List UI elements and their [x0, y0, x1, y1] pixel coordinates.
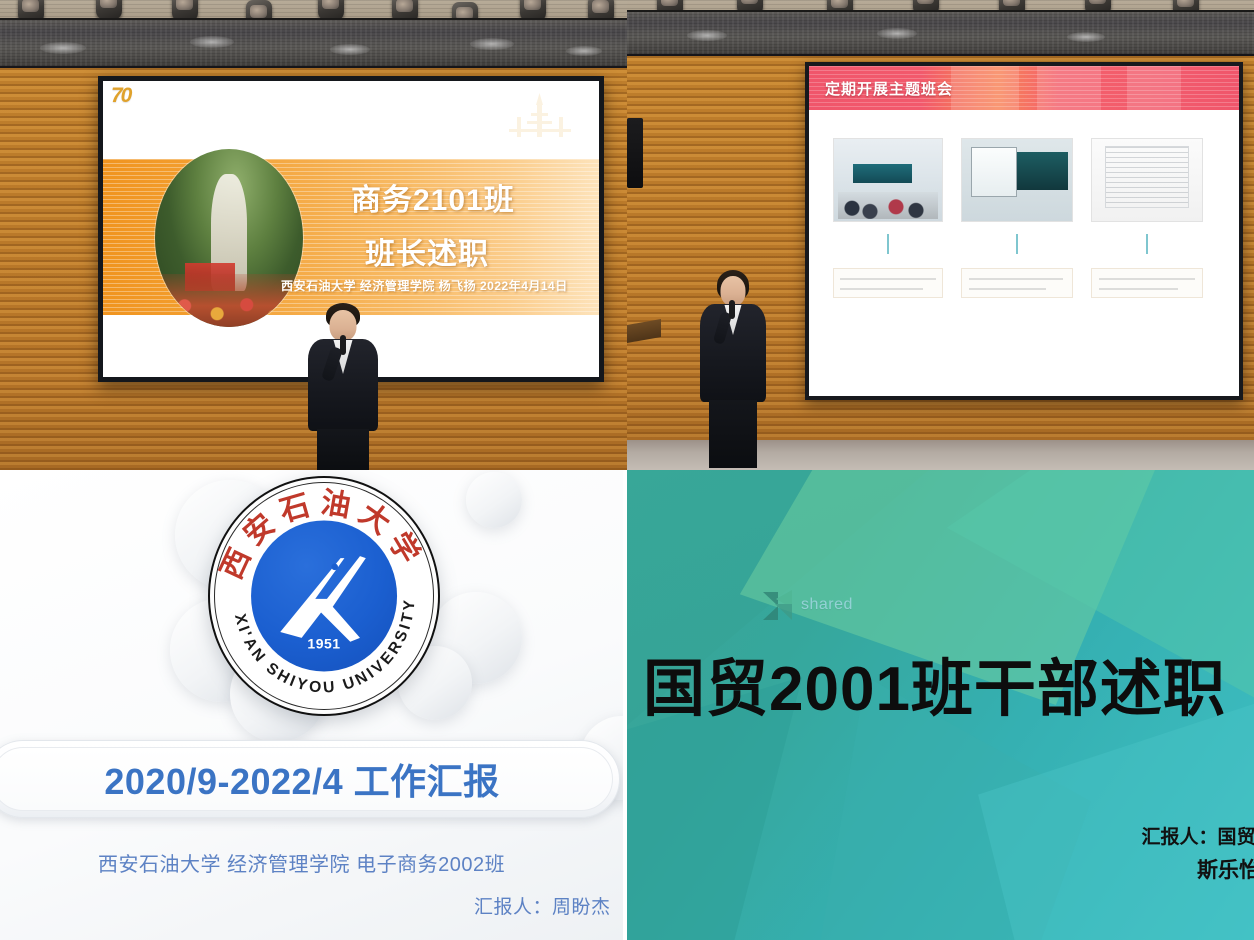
divider-tick — [887, 234, 889, 254]
microphone — [729, 300, 735, 319]
shared-cube-icon — [763, 590, 793, 620]
ppt-reporter-line-1: 汇报人：国贸200 — [1141, 822, 1254, 849]
panel-bottom-right: shared 国贸2001班干部述职 汇报人：国贸200 斯乐怡 — [627, 470, 1254, 940]
bg-facet — [978, 696, 1254, 940]
ppt-title: 2020/9-2022/4 工作汇报 — [0, 741, 619, 817]
seal-year: 1951 — [307, 636, 340, 652]
shared-watermark-label: shared — [801, 596, 853, 614]
microphone — [340, 335, 346, 355]
slide-subtitle: 西安石油大学 经济管理学院 杨飞扬 2022年4月14日 — [281, 277, 568, 294]
thumbnail-photo-3 — [1091, 138, 1203, 222]
wall-speaker — [627, 118, 643, 188]
caption-box-2 — [961, 268, 1073, 298]
divider-tick — [1146, 234, 1148, 254]
panel-top-left: 70 商务2101班 班长述职 西安石油大 — [0, 0, 627, 470]
thumbnail-photo-1 — [833, 138, 943, 222]
shared-watermark: shared — [763, 590, 853, 620]
trousers — [709, 400, 757, 468]
thumbnail-photo-2 — [961, 138, 1073, 222]
photo-collage: 70 商务2101班 班长述职 西安石油大 — [0, 0, 1254, 940]
projection-screen: 定期开展主题班会 — [805, 62, 1243, 400]
slide-title-line2: 班长述职 — [365, 229, 489, 273]
university-seal-logo: 西安石油大学 XI'AN SHIYOU UNIVERSITY 1951 — [208, 476, 440, 716]
campus-watermark-icon — [497, 87, 585, 143]
stage-light — [96, 0, 122, 20]
slide-title-line1: 商务2101班 — [351, 175, 515, 219]
panel-top-right: 定期开展主题班会 — [627, 0, 1254, 470]
ppt-reporter-line-2: 斯乐怡 — [1197, 854, 1254, 884]
ceiling-led-panel — [627, 10, 1254, 56]
divider-tick — [1016, 234, 1018, 254]
ppt-title: 国贸2001班干部述职 — [643, 638, 1226, 728]
anniversary-70-icon: 70 — [111, 85, 130, 106]
seal-blue-core: 1951 — [251, 520, 397, 671]
presenter-female — [693, 270, 773, 470]
ppt-cover-slide: shared 国贸2001班干部述职 汇报人：国贸200 斯乐怡 — [627, 470, 1254, 940]
ppt-cover-slide: 西安石油大学 XI'AN SHIYOU UNIVERSITY 1951 — [0, 470, 627, 940]
ppt-reporter-line: 汇报人：周盼杰 — [474, 892, 611, 919]
presenter-male — [300, 303, 386, 470]
decor-circle — [466, 472, 522, 528]
panel-bottom-left: 西安石油大学 XI'AN SHIYOU UNIVERSITY 1951 — [0, 470, 627, 940]
slide-header-title: 定期开展主题班会 — [825, 78, 953, 99]
ceiling-led-panel — [0, 18, 627, 68]
caption-box-1 — [833, 268, 943, 298]
caption-box-3 — [1091, 268, 1203, 298]
title-ribbon: 2020/9-2022/4 工作汇报 — [0, 740, 620, 818]
trousers — [317, 429, 369, 470]
campus-photo-oval — [155, 149, 303, 327]
ppt-affiliation-line: 西安石油大学 经济管理学院 电子商务2002班 — [98, 848, 505, 877]
